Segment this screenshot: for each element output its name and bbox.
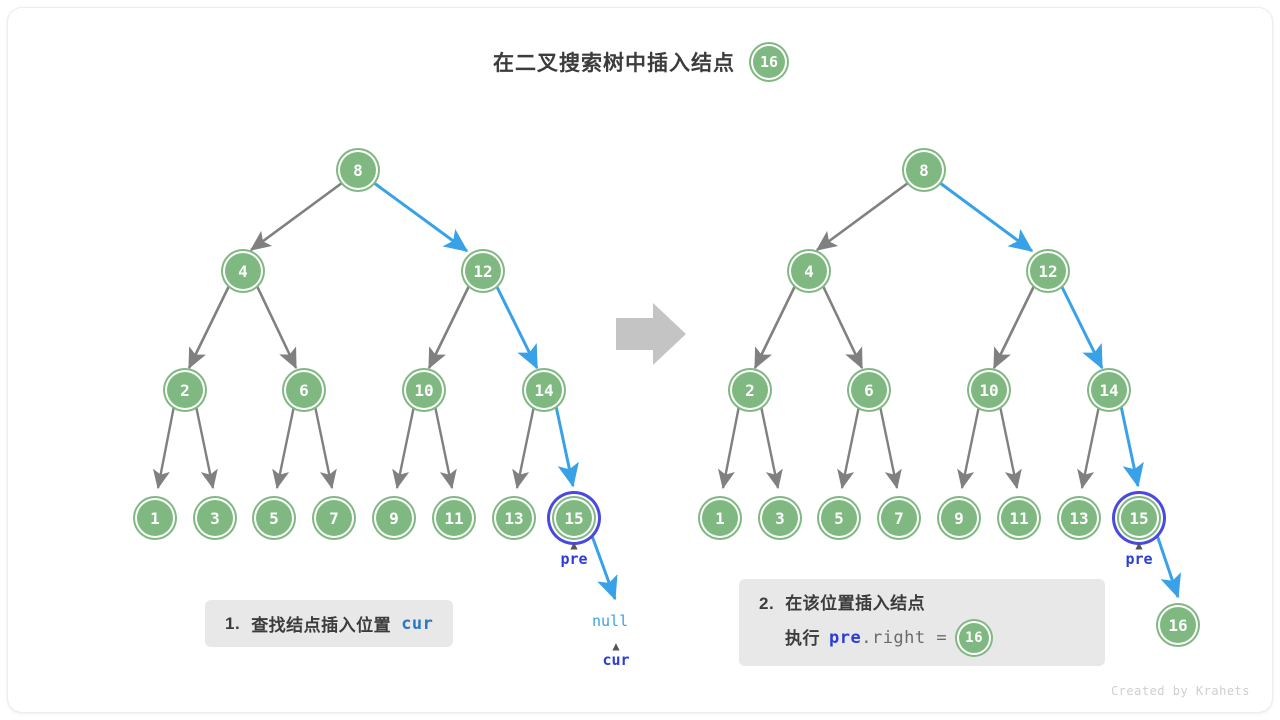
caption-1-code-cur: cur bbox=[401, 614, 433, 634]
diagram-card: 在二叉搜索树中插入结点 16 bbox=[8, 8, 1272, 712]
left-tree-node-11: 11 bbox=[434, 498, 474, 538]
page-title: 在二叉搜索树中插入结点 16 bbox=[8, 44, 1272, 80]
left-null-label: null bbox=[592, 612, 628, 630]
title-text: 在二叉搜索树中插入结点 bbox=[493, 47, 735, 77]
left-tree-node-5: 5 bbox=[254, 498, 294, 538]
caption-1-index: 1. bbox=[225, 614, 240, 634]
left-tree-node-14: 14 bbox=[524, 370, 564, 410]
caption-2-line1: 2. 在该位置插入结点 bbox=[759, 590, 1085, 617]
left-tree-node-2: 2 bbox=[165, 370, 205, 410]
right-tree-node-12: 12 bbox=[1028, 251, 1068, 291]
right-tree-node-16-inserted: 16 bbox=[1158, 605, 1198, 645]
caption-2-line2: 执行 pre .right = 16 bbox=[759, 621, 1085, 655]
left-tree-node-7: 7 bbox=[314, 498, 354, 538]
footer-credit: Created by Krahets bbox=[1111, 684, 1250, 698]
left-pointer-cur-label: cur bbox=[602, 651, 629, 669]
left-pointer-cur: ▲ cur bbox=[592, 642, 640, 669]
left-tree-node-4: 4 bbox=[223, 251, 263, 291]
left-tree-node-10: 10 bbox=[404, 370, 444, 410]
right-tree-node-15-highlighted: 15 bbox=[1119, 498, 1159, 538]
left-tree-node-3: 3 bbox=[195, 498, 235, 538]
caret-icon: ▲ bbox=[612, 642, 619, 651]
right-tree-node-1: 1 bbox=[700, 498, 740, 538]
caption-step-2: 2. 在该位置插入结点 执行 pre .right = 16 bbox=[739, 579, 1105, 666]
right-pointer-pre: ▲ pre bbox=[1114, 541, 1164, 568]
left-tree-node-12: 12 bbox=[463, 251, 503, 291]
caret-icon: ▲ bbox=[1135, 541, 1142, 550]
left-pointer-pre-label: pre bbox=[560, 550, 587, 568]
caption-step-1: 1. 查找结点插入位置 cur bbox=[205, 600, 453, 647]
right-pointer-pre-label: pre bbox=[1125, 550, 1152, 568]
caption-2-text: 在该位置插入结点 bbox=[785, 590, 925, 617]
left-tree-node-15-highlighted: 15 bbox=[554, 498, 594, 538]
left-tree-node-1: 1 bbox=[135, 498, 175, 538]
right-tree-node-14: 14 bbox=[1089, 370, 1129, 410]
right-tree-node-9: 9 bbox=[939, 498, 979, 538]
caption-1-text: 查找结点插入位置 bbox=[251, 611, 391, 636]
caption-2-node-16: 16 bbox=[957, 621, 991, 655]
right-tree-node-13: 13 bbox=[1059, 498, 1099, 538]
caption-2-index: 2. bbox=[759, 590, 774, 617]
right-tree-node-5: 5 bbox=[819, 498, 859, 538]
right-tree-node-7: 7 bbox=[879, 498, 919, 538]
caption-2-code-rest: .right = bbox=[861, 625, 947, 652]
caption-2-code-pre: pre bbox=[829, 625, 861, 652]
right-tree-node-11: 11 bbox=[999, 498, 1039, 538]
left-tree-node-9: 9 bbox=[374, 498, 414, 538]
right-tree-node-2: 2 bbox=[730, 370, 770, 410]
right-tree-node-10: 10 bbox=[969, 370, 1009, 410]
left-tree-node-8: 8 bbox=[338, 150, 378, 190]
title-node-16: 16 bbox=[751, 44, 787, 80]
left-tree-node-6: 6 bbox=[284, 370, 324, 410]
left-tree-node-13: 13 bbox=[494, 498, 534, 538]
right-tree-node-8: 8 bbox=[904, 150, 944, 190]
right-tree-node-4: 4 bbox=[789, 251, 829, 291]
left-pointer-pre: ▲ pre bbox=[549, 541, 599, 568]
caption-2-exec-label: 执行 bbox=[785, 625, 820, 652]
caret-icon: ▲ bbox=[570, 541, 577, 550]
right-tree-node-6: 6 bbox=[849, 370, 889, 410]
right-tree-node-3: 3 bbox=[760, 498, 800, 538]
